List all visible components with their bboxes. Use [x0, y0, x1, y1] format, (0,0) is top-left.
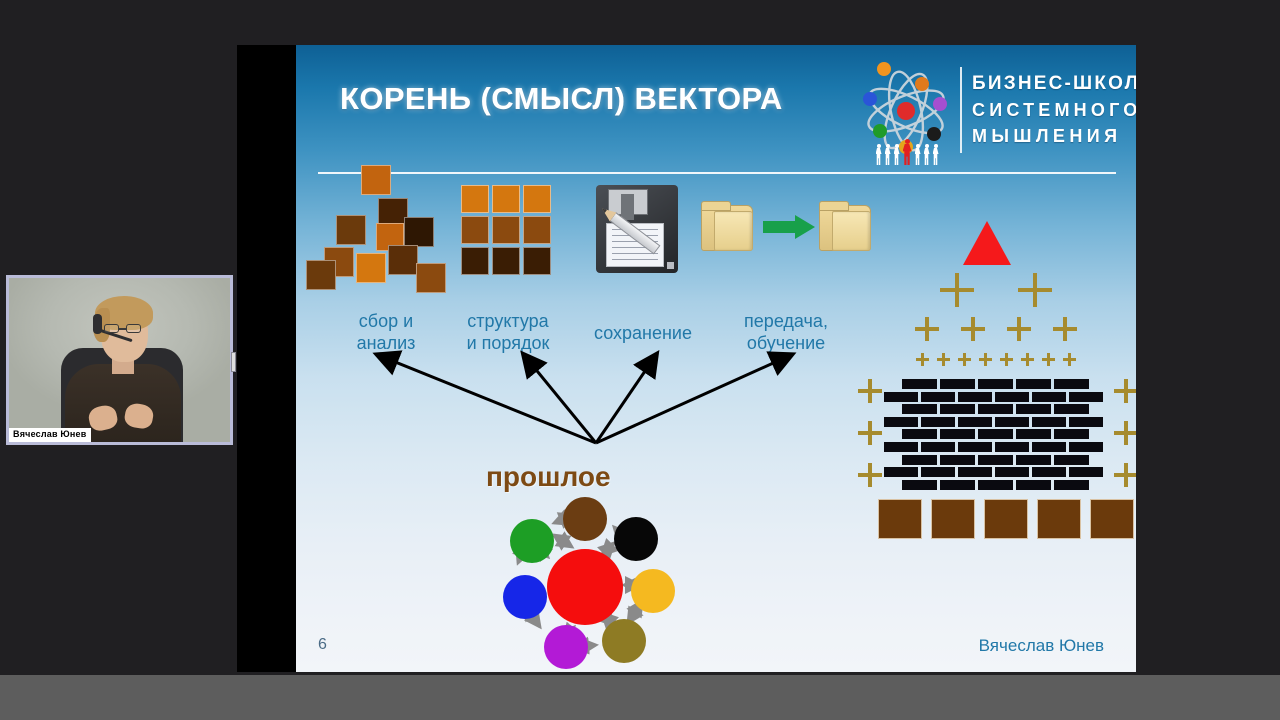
vertical-scroll-handle[interactable] [231, 352, 236, 372]
webcam-participant-name: Вячеслав Юнев [9, 428, 91, 442]
circles-network-diagram [492, 497, 682, 672]
brick-row [884, 429, 1109, 439]
page-title: КОРЕНЬ (СМЫСЛ) ВЕКТОРА [340, 81, 783, 117]
pyramid-wall-diagram [856, 221, 1136, 531]
folder-transfer-icon [701, 191, 871, 267]
brown-square [878, 499, 922, 539]
brick [978, 480, 1013, 490]
brand-text: БИЗНЕС-ШКОЛА СИСТЕМНОГО МЫШЛЕНИЯ [972, 71, 1136, 149]
brick [940, 404, 975, 414]
past-label: прошлое [486, 461, 611, 493]
brick [1054, 455, 1089, 465]
brick [958, 467, 992, 477]
brick [921, 442, 955, 452]
brick [995, 467, 1029, 477]
floppy-disk-save-icon [596, 185, 678, 273]
brown-square [984, 499, 1028, 539]
plus-row-middle [856, 317, 1136, 341]
plus-icon [1042, 353, 1055, 366]
plus-row-bottom [856, 353, 1136, 366]
caption-line: сбор и [326, 310, 446, 332]
brick-row [884, 379, 1109, 389]
brand-line-3: МЫШЛЕНИЯ [972, 123, 1136, 149]
brick [884, 467, 918, 477]
brick [1032, 467, 1066, 477]
brick [884, 392, 918, 402]
brick [1032, 392, 1066, 402]
plus-icon [979, 353, 992, 366]
plus-icon [1018, 273, 1052, 307]
plus-column-left [858, 379, 882, 505]
brown-square [931, 499, 975, 539]
glasses-bridge [119, 328, 126, 330]
brick-row [884, 455, 1109, 465]
plus-icon [858, 379, 882, 403]
presentation-stage: КОРЕНЬ (СМЫСЛ) ВЕКТОРА [237, 45, 1136, 672]
folder-source-icon [701, 201, 753, 251]
glasses-left-lens [104, 324, 119, 333]
plus-icon [916, 353, 929, 366]
ordered-grid-icon [461, 185, 551, 275]
scatter-square [356, 253, 386, 283]
grid-square [461, 185, 489, 213]
brick [884, 417, 918, 427]
webcam-panel[interactable]: Вячеслав Юнев [6, 275, 233, 445]
brick [1032, 442, 1066, 452]
plus-icon [1114, 463, 1136, 487]
node-black [614, 517, 658, 561]
brick-row [884, 392, 1109, 402]
red-triangle-icon [963, 221, 1011, 265]
brick [884, 442, 918, 452]
scattered-squares-icon [306, 165, 456, 280]
brick [921, 417, 955, 427]
scatter-square [336, 215, 366, 245]
brown-squares-row [878, 499, 1134, 539]
brick [1016, 404, 1051, 414]
node-olive [602, 619, 646, 663]
brick [902, 404, 937, 414]
glasses-right-lens [126, 324, 141, 333]
grid-square [492, 185, 520, 213]
brick [1054, 480, 1089, 490]
brick [940, 480, 975, 490]
brick [1069, 467, 1103, 477]
brick [940, 455, 975, 465]
node-blue [503, 575, 547, 619]
people-silhouettes-icon [866, 139, 948, 165]
brick [902, 429, 937, 439]
brick [978, 429, 1013, 439]
plus-icon [1021, 353, 1034, 366]
brick [1016, 455, 1051, 465]
brick [940, 429, 975, 439]
plus-icon [858, 463, 882, 487]
brand-logo: БИЗНЕС-ШКОЛА СИСТЕМНОГО МЫШЛЕНИЯ [860, 53, 1124, 169]
webcam-video-feed [9, 278, 230, 442]
plus-icon [858, 421, 882, 445]
plus-icon [915, 317, 939, 341]
plus-icon [1000, 353, 1013, 366]
bottom-chrome-bar [0, 675, 1280, 720]
brick [958, 392, 992, 402]
screen-root: Вячеслав Юнев КОРЕНЬ (СМЫСЛ) ВЕКТОРА [0, 0, 1280, 720]
brick [1054, 429, 1089, 439]
scatter-square [404, 217, 434, 247]
brick [921, 392, 955, 402]
brick [1069, 392, 1103, 402]
brick-row [884, 467, 1109, 477]
plus-icon [1007, 317, 1031, 341]
caption-line: передача, [716, 310, 856, 332]
center-red [547, 549, 623, 625]
brick [1054, 404, 1089, 414]
brand-line-2: СИСТЕМНОГО [972, 97, 1136, 123]
scatter-square [416, 263, 446, 293]
green-arrow-icon [763, 215, 815, 239]
brick-row [884, 404, 1109, 414]
slide-canvas: КОРЕНЬ (СМЫСЛ) ВЕКТОРА [296, 45, 1136, 672]
node-gold [631, 569, 675, 613]
grid-square [492, 216, 520, 244]
slide-number: 6 [318, 636, 327, 654]
brick [1016, 379, 1051, 389]
brand-line-1: БИЗНЕС-ШКОЛА [972, 71, 1136, 97]
node-green [510, 519, 554, 563]
brick [995, 417, 1029, 427]
grid-square [523, 216, 551, 244]
plus-column-right [1114, 379, 1136, 505]
caption-save: сохранение [576, 322, 710, 344]
grid-square [461, 247, 489, 275]
plus-icon [1114, 421, 1136, 445]
scatter-square [306, 260, 336, 290]
brick [1069, 417, 1103, 427]
plus-icon [1114, 379, 1136, 403]
node-purple [544, 625, 588, 669]
logo-divider [960, 67, 962, 153]
brick [902, 480, 937, 490]
brick-row [884, 480, 1109, 490]
brick [978, 404, 1013, 414]
brick [1016, 429, 1051, 439]
brick [978, 455, 1013, 465]
plus-icon [937, 353, 950, 366]
brick [978, 379, 1013, 389]
plus-icon [1063, 353, 1076, 366]
node-brown [563, 497, 607, 541]
brick [902, 455, 937, 465]
plus-icon [940, 273, 974, 307]
brick-wall-icon [884, 379, 1109, 479]
plus-icon [958, 353, 971, 366]
brick [921, 467, 955, 477]
brick [958, 442, 992, 452]
brick [902, 379, 937, 389]
grid-square [461, 216, 489, 244]
plus-icon [961, 317, 985, 341]
brick [995, 392, 1029, 402]
scatter-square [361, 165, 391, 195]
brown-square [1090, 499, 1134, 539]
brick [940, 379, 975, 389]
scatter-square [388, 245, 418, 275]
plus-row-top [856, 273, 1136, 307]
caption-line: структура [444, 310, 572, 332]
brick-row [884, 442, 1109, 452]
brick [1016, 480, 1051, 490]
brick [1054, 379, 1089, 389]
caption-line: сохранение [576, 322, 710, 344]
brick [958, 417, 992, 427]
brick [995, 442, 1029, 452]
slide-author: Вячеслав Юнев [979, 636, 1104, 656]
grid-square [523, 247, 551, 275]
grid-square [492, 247, 520, 275]
brick-row [884, 417, 1109, 427]
brick [1069, 442, 1103, 452]
plus-icon [1053, 317, 1077, 341]
brown-square [1037, 499, 1081, 539]
grid-square [523, 185, 551, 213]
brick [1032, 417, 1066, 427]
